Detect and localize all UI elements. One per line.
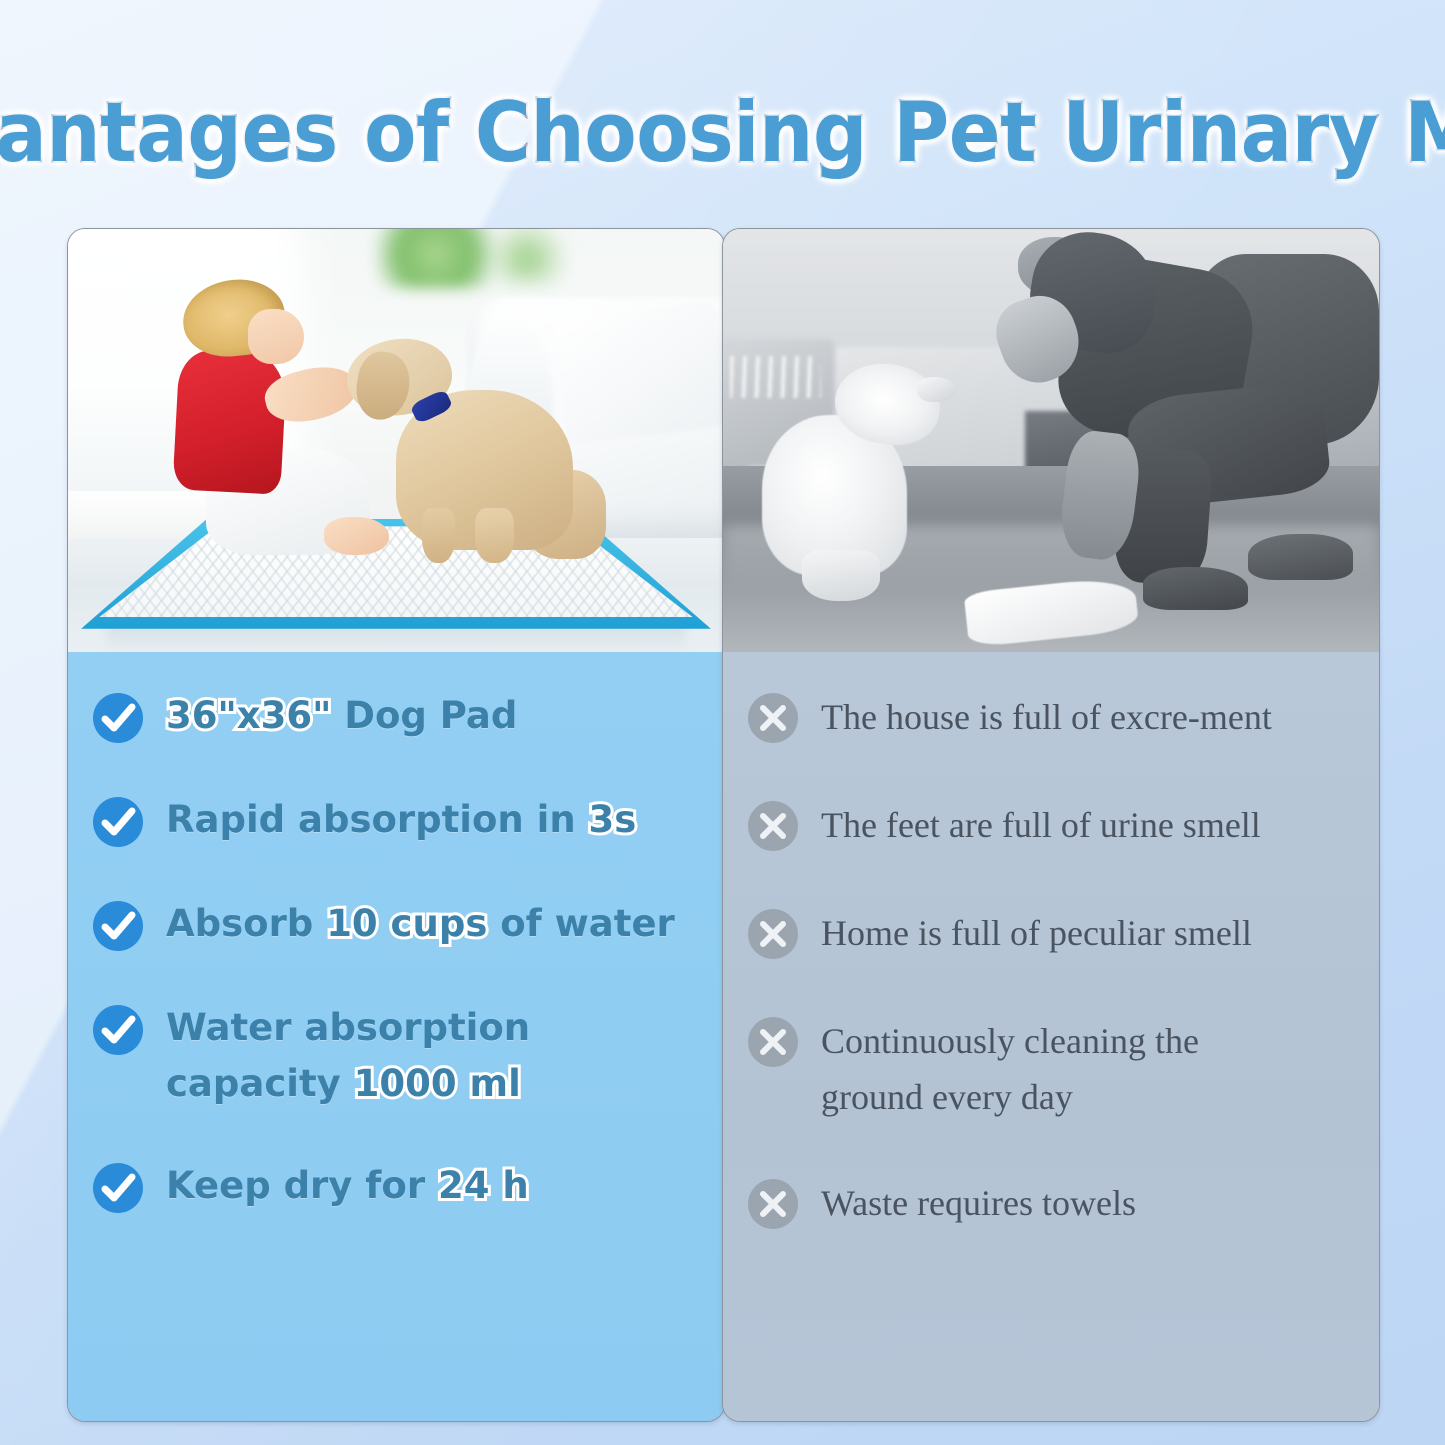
list-item-prefix: Keep dry for	[166, 1164, 438, 1207]
highlight-value: 3s	[589, 798, 637, 841]
check-circle-icon	[90, 690, 146, 746]
boy-face	[248, 309, 304, 364]
white-dog-snout	[917, 377, 956, 402]
page-title: Advantages of Choosing Pet Urinary Mats	[58, 72, 1387, 192]
cross-circle-icon	[745, 1176, 801, 1232]
woman-shoe-left	[1143, 567, 1248, 609]
check-circle-icon	[90, 794, 146, 850]
list-item: Continuously cleaning theground every da…	[745, 1010, 1357, 1126]
woman-shoe-right	[1248, 534, 1353, 581]
puppy-hind-leg	[475, 508, 514, 563]
infographic-root: Advantages of Choosing Pet Urinary Mats	[0, 0, 1445, 1445]
advantages-panel: 36"x36" Dog Pad Rapid absorption in 3s A…	[67, 228, 725, 1422]
list-item: Absorb 10 cups of water	[90, 894, 702, 954]
list-item-text: The house is full of excre-ment	[821, 686, 1272, 746]
check-circle-icon	[90, 898, 146, 954]
list-item: Waste requires towels	[745, 1172, 1357, 1232]
list-item-line2-prefix: capacity	[166, 1062, 354, 1105]
advantages-list: 36"x36" Dog Pad Rapid absorption in 3s A…	[68, 652, 724, 1421]
plant-blur-2	[481, 229, 573, 284]
list-item-text: Waste requires towels	[821, 1172, 1136, 1232]
boy-foot	[324, 517, 390, 555]
disadvantages-list: The house is full of excre-ment The feet…	[723, 652, 1379, 1421]
cross-circle-icon	[745, 690, 801, 746]
list-item-suffix: Dog Pad	[331, 694, 517, 737]
list-item-suffix: of water	[487, 902, 674, 945]
list-item-prefix: Absorb	[166, 902, 326, 945]
chair-legs	[730, 356, 822, 398]
list-item: The house is full of excre-ment	[745, 686, 1357, 746]
list-item-line1: Continuously cleaning the	[821, 1021, 1199, 1061]
list-item: Home is full of peculiar smell	[745, 902, 1357, 962]
list-item: 36"x36" Dog Pad	[90, 686, 702, 746]
cross-circle-icon	[745, 906, 801, 962]
list-item: Water absorptioncapacity 1000 ml	[90, 998, 702, 1112]
boy-red-shirt	[173, 349, 288, 494]
highlight-value: 24 h	[438, 1164, 529, 1207]
list-item-text: Rapid absorption in 3s	[166, 790, 636, 848]
list-item-prefix: Rapid absorption in	[166, 798, 589, 841]
list-item: Keep dry for 24 h	[90, 1156, 702, 1216]
pillow	[553, 300, 724, 446]
list-item-line1: Water absorption	[166, 1006, 530, 1049]
list-item-text: Water absorptioncapacity 1000 ml	[166, 998, 530, 1112]
list-item-text: Keep dry for 24 h	[166, 1156, 529, 1214]
cross-circle-icon	[745, 1014, 801, 1070]
cross-circle-icon	[745, 798, 801, 854]
list-item-text: Continuously cleaning theground every da…	[821, 1010, 1199, 1126]
highlight-value: 10 cups	[326, 902, 487, 945]
white-dog-leg	[802, 550, 881, 601]
list-item-text: 36"x36" Dog Pad	[166, 686, 517, 744]
highlight-value: 1000 ml	[354, 1062, 521, 1105]
list-item: The feet are full of urine smell	[745, 794, 1357, 854]
check-circle-icon	[90, 1002, 146, 1058]
photo-boy-with-puppy-on-pad	[68, 229, 724, 652]
check-circle-icon	[90, 1160, 146, 1216]
highlight-value: 36"x36"	[166, 694, 331, 737]
list-item-line2: ground every day	[821, 1077, 1073, 1117]
photo-woman-cleaning-floor	[723, 229, 1379, 652]
list-item-text: Home is full of peculiar smell	[821, 902, 1252, 962]
list-item-text: The feet are full of urine smell	[821, 794, 1261, 854]
puppy-front-leg	[422, 508, 455, 563]
list-item: Rapid absorption in 3s	[90, 790, 702, 850]
list-item-text: Absorb 10 cups of water	[166, 894, 675, 952]
disadvantages-panel: The house is full of excre-ment The feet…	[722, 228, 1380, 1422]
